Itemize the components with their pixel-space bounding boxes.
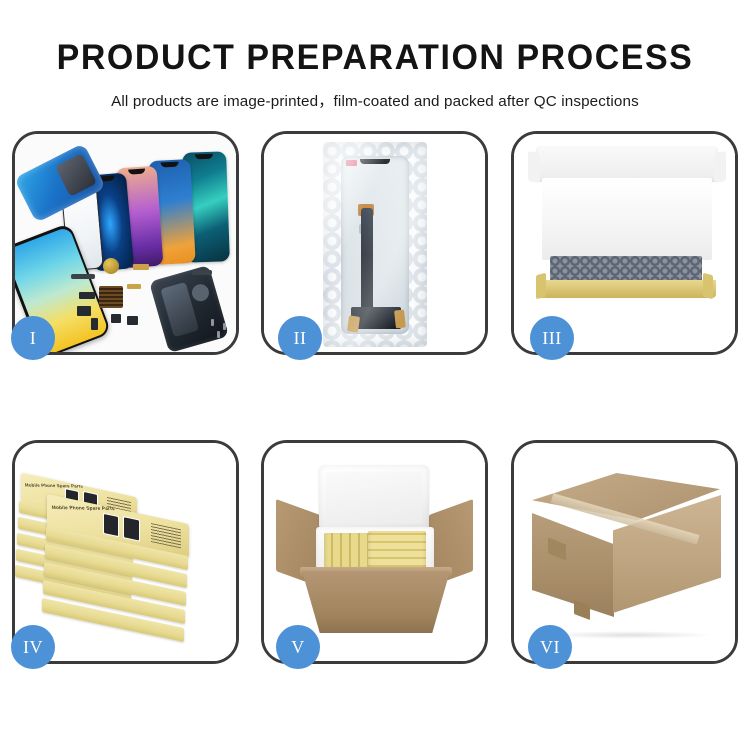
- kraft-tray-front: [538, 280, 716, 298]
- spare-part-bar: [71, 274, 95, 279]
- product-preparation-process-page: PRODUCT PREPARATION PROCESS All products…: [0, 0, 750, 750]
- phone-notch-icon: [161, 162, 179, 168]
- process-row-top: I: [0, 131, 750, 378]
- kraft-tray-lip-right: [703, 273, 713, 299]
- box-artwork-screen: [123, 516, 140, 542]
- step-badge-4: IV: [11, 625, 55, 669]
- step-badge-1: I: [11, 316, 55, 360]
- step-panel-5[interactable]: V: [261, 440, 488, 664]
- spare-part-speaker-coil: [103, 258, 119, 274]
- lcd-screen-assembly: [341, 156, 409, 334]
- spare-part-flex-cable: [127, 284, 141, 289]
- spare-part-chip: [111, 314, 121, 323]
- spare-part-chip: [79, 292, 95, 299]
- step-badge-2: II: [278, 316, 322, 360]
- box-lid-white: [536, 146, 718, 182]
- spare-part-screw: [211, 319, 214, 326]
- step-image-4: Mobile Phone Spare Parts Mobile Phone Sp…: [15, 443, 236, 661]
- lcd-pink-sticker: [346, 160, 357, 166]
- foam-sheet-white: [542, 178, 712, 260]
- spare-part-screw: [217, 331, 220, 338]
- step-panel-2[interactable]: II: [261, 131, 488, 355]
- box-artwork-screen-fill: [104, 514, 118, 536]
- kraft-tray-lip-left: [536, 273, 546, 299]
- step-badge-3: III: [530, 316, 574, 360]
- carton-body: [302, 571, 450, 633]
- step-panel-3[interactable]: III: [511, 131, 738, 355]
- box-artwork-screen-fill: [124, 517, 139, 540]
- page-header: PRODUCT PREPARATION PROCESS All products…: [0, 0, 750, 111]
- step-panel-1[interactable]: I: [12, 131, 239, 355]
- step-badge-5: V: [276, 625, 320, 669]
- box-artwork-screen: [103, 513, 119, 537]
- step-image-1: [15, 134, 236, 352]
- spare-part-chip: [91, 318, 98, 330]
- lcd-tab-right: [394, 310, 406, 329]
- step-panel-4[interactable]: Mobile Phone Spare Parts Mobile Phone Sp…: [12, 440, 239, 664]
- box-label-text: Mobile Phone Spare Parts: [52, 506, 116, 512]
- spare-part-bar: [192, 270, 212, 275]
- process-steps-grid: I: [0, 131, 750, 687]
- box-spec-lines: [151, 523, 181, 548]
- page-title: PRODUCT PREPARATION PROCESS: [11, 40, 739, 75]
- step-badge-6: VI: [528, 625, 572, 669]
- phone-notch-icon: [195, 154, 214, 160]
- bubble-wrap-bag: [323, 142, 427, 347]
- spare-part-flex-cable: [133, 264, 149, 270]
- foam-lid-white: [319, 465, 429, 531]
- spare-part-chip: [127, 316, 138, 325]
- step-panel-6[interactable]: VI: [511, 440, 738, 664]
- page-subtitle: All products are image-printed，film-coat…: [0, 89, 750, 111]
- lcd-tab-left: [346, 315, 359, 332]
- spare-part-chip: [77, 306, 91, 316]
- box-label-text: Mobile Phone Spare Parts: [25, 482, 84, 488]
- lcd-notch-icon: [360, 159, 390, 164]
- spare-part-screw: [223, 323, 226, 330]
- phone-notch-icon: [128, 169, 146, 175]
- process-row-bottom: Mobile Phone Spare Parts Mobile Phone Sp…: [0, 440, 750, 687]
- spare-part-grid-module: [99, 286, 123, 308]
